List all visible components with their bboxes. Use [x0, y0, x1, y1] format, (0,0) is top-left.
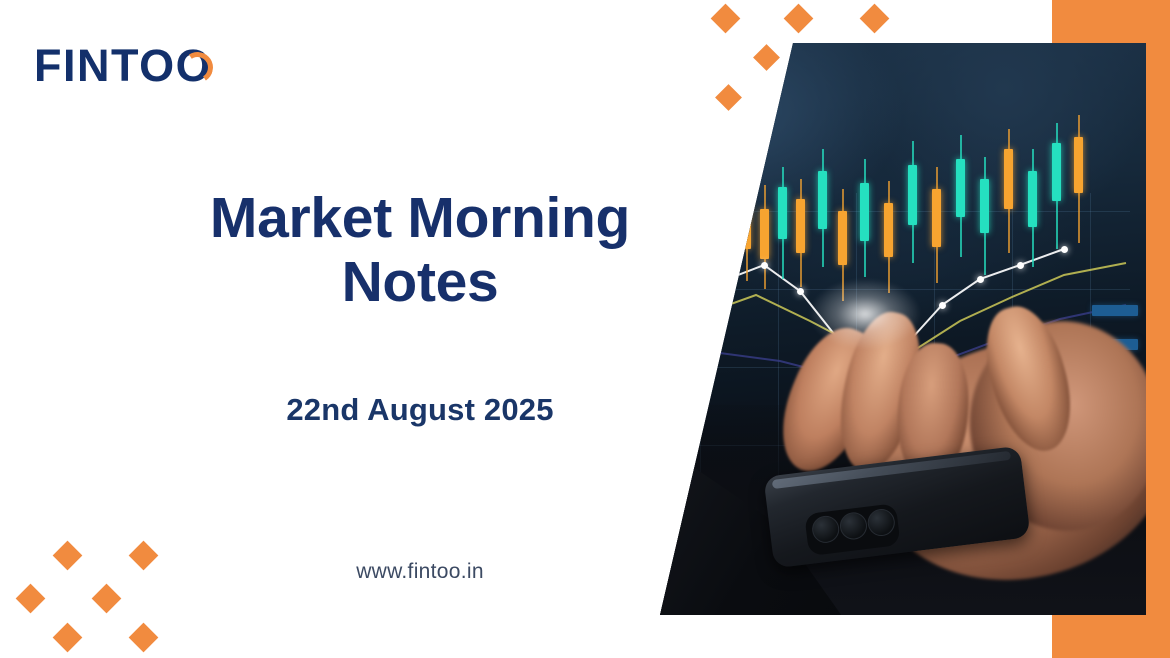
- poster-canvas: FINTOO Market Morning Notes 22nd August …: [0, 0, 1170, 658]
- data-bar: [1092, 305, 1138, 316]
- decor-diamond: [753, 44, 780, 71]
- decor-diamond: [711, 4, 741, 34]
- page-title: Market Morning Notes: [120, 186, 720, 315]
- decor-diamond: [715, 84, 742, 111]
- decor-diamond: [92, 584, 122, 614]
- fintoo-logo[interactable]: FINTOO: [34, 40, 264, 92]
- decor-diamond: [129, 623, 159, 653]
- decor-diamond: [53, 623, 83, 653]
- website-url[interactable]: www.fintoo.in: [120, 560, 720, 584]
- issue-date: 22nd August 2025: [120, 392, 720, 428]
- fintoo-logo-wordmark: FINTOO: [34, 40, 264, 92]
- page-title-line1: Market Morning: [120, 186, 720, 250]
- decor-diamond: [784, 4, 814, 34]
- decor-diamond: [860, 4, 890, 34]
- photo-touch-glow: [810, 279, 920, 349]
- decor-diamond: [53, 541, 83, 571]
- decor-diamond: [16, 584, 46, 614]
- page-title-line2: Notes: [120, 250, 720, 314]
- hero-photo-content: [640, 43, 1146, 615]
